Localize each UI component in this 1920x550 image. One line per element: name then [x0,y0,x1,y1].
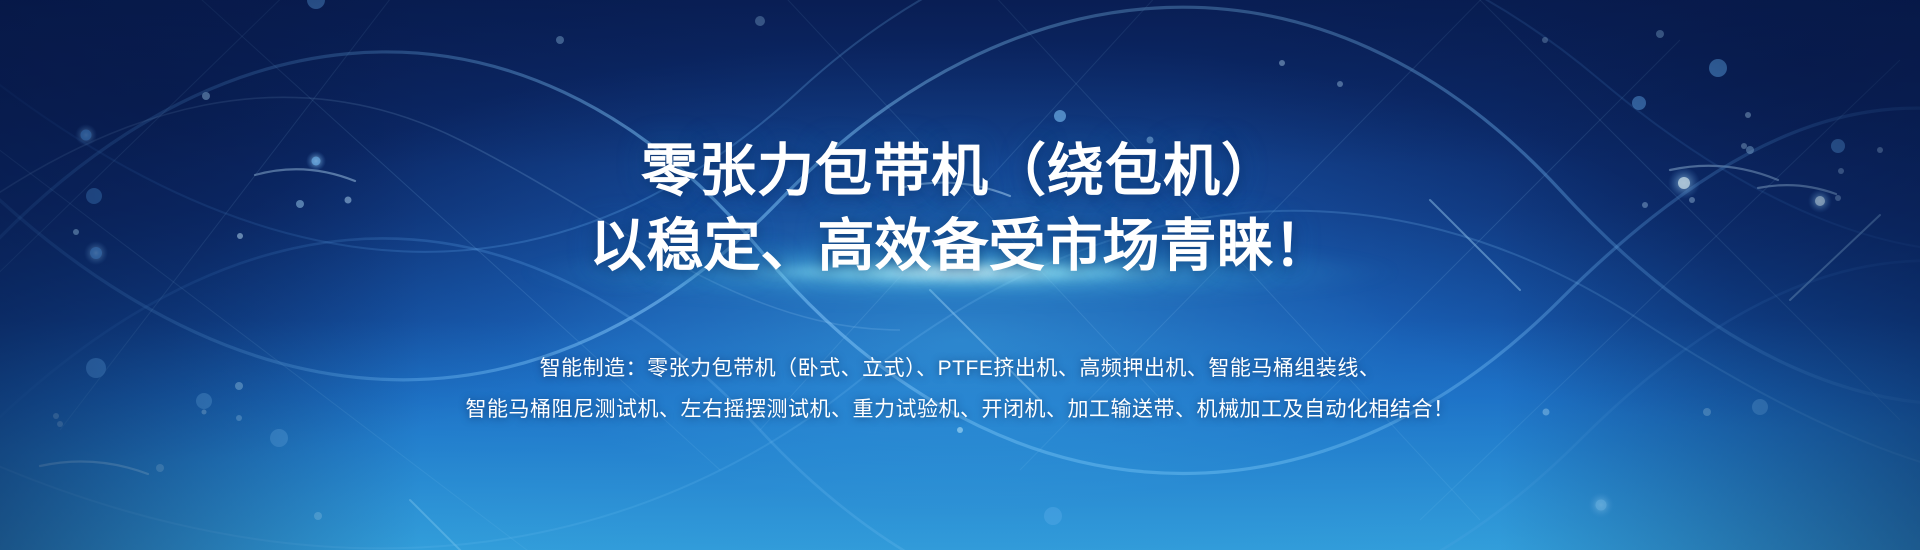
banner-headline: 零张力包带机（绕包机） 以稳定、高效备受市场青睐！ [590,134,1331,284]
headline-line-1: 零张力包带机（绕包机） [590,134,1331,209]
hero-banner: 零张力包带机（绕包机） 以稳定、高效备受市场青睐！ 智能制造：零张力包带机（卧式… [0,0,1920,550]
banner-content: 零张力包带机（绕包机） 以稳定、高效备受市场青睐！ 智能制造：零张力包带机（卧式… [0,0,1920,550]
banner-subtitle: 智能制造：零张力包带机（卧式、立式）、PTFE挤出机、高频押出机、智能马桶组装线… [466,349,1455,431]
subtitle-line-2: 智能马桶阻尼测试机、左右摇摆测试机、重力试验机、开闭机、加工输送带、机械加工及自… [466,390,1455,431]
subtitle-line-1: 智能制造：零张力包带机（卧式、立式）、PTFE挤出机、高频押出机、智能马桶组装线… [466,349,1455,390]
headline-line-2: 以稳定、高效备受市场青睐！ [590,209,1331,284]
